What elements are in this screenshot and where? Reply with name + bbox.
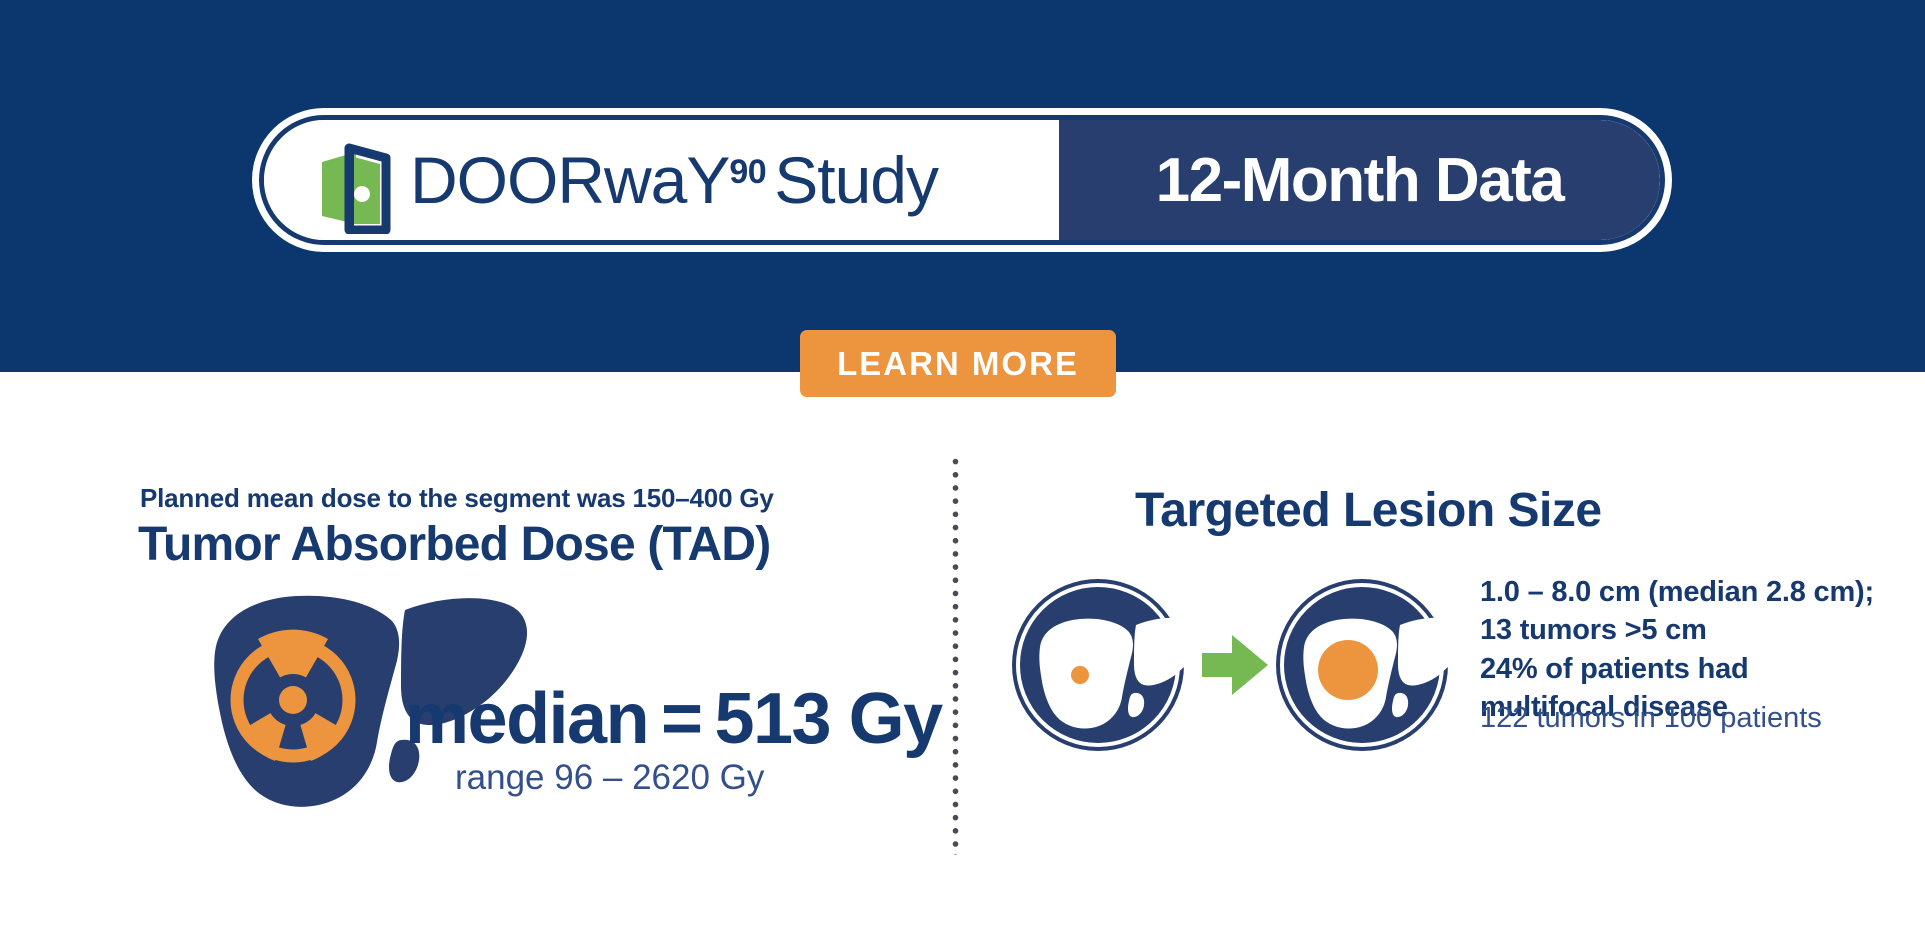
- month-data-badge: 12-Month Data: [1059, 120, 1660, 240]
- study-banner-left: DOORwaY90Study: [264, 120, 1059, 240]
- study-banner: DOORwaY90Study 12-Month Data: [252, 108, 1672, 252]
- median-dose-value: median = 513 Gy: [405, 678, 942, 760]
- right-arrow-icon: [1202, 635, 1268, 695]
- wordmark-suffix: Study: [774, 143, 938, 217]
- study-banner-inner: DOORwaY90Study 12-Month Data: [259, 115, 1665, 245]
- wordmark-main: DOORwaY: [410, 143, 729, 217]
- month-data-label: 12-Month Data: [1156, 145, 1564, 216]
- liver-small-lesion-icon: [1012, 579, 1200, 751]
- lesion-note: 122 tumors in 100 patients: [1480, 702, 1822, 735]
- wordmark-superscript: 90: [729, 153, 766, 191]
- targeted-lesion-size-panel: Targeted Lesion Size: [950, 395, 1925, 925]
- lesion-progression-graphic: [1010, 565, 1450, 765]
- tad-subtitle: Planned mean dose to the segment was 150…: [140, 483, 774, 514]
- lesion-stat-line: 1.0 – 8.0 cm (median 2.8 cm);: [1480, 573, 1874, 611]
- study-wordmark: DOORwaY90Study: [410, 147, 938, 213]
- header-band: DOORwaY90Study 12-Month Data: [0, 0, 1925, 372]
- dose-range-value: range 96 – 2620 Gy: [455, 758, 764, 798]
- lesion-title: Targeted Lesion Size: [1135, 483, 1602, 538]
- learn-more-button[interactable]: LEARN MORE: [800, 330, 1116, 397]
- liver-large-lesion-icon: [1276, 579, 1450, 751]
- tad-title: Tumor Absorbed Dose (TAD): [138, 517, 770, 572]
- open-door-icon: [302, 126, 394, 234]
- lesion-stat-line: 13 tumors >5 cm: [1480, 611, 1874, 649]
- lesion-stat-line: 24% of patients had: [1480, 650, 1874, 688]
- tumor-absorbed-dose-panel: Planned mean dose to the segment was 150…: [0, 395, 950, 925]
